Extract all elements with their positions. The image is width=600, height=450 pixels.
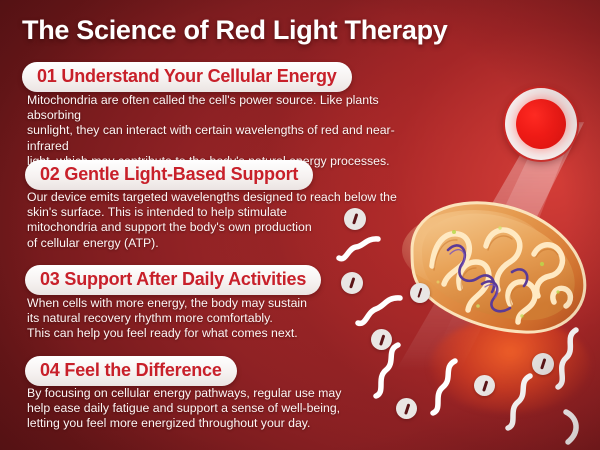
infographic-poster: The Science of Red Light Therapy 01 Unde… xyxy=(0,0,600,450)
section-body-01: Mitochondria are often called the cell's… xyxy=(27,93,427,169)
section-heading-04: 04 Feel the Difference xyxy=(25,356,237,386)
wave-squiggle xyxy=(425,355,471,417)
page-title: The Science of Red Light Therapy xyxy=(22,15,447,46)
red-light-device xyxy=(505,88,577,160)
section-heading-01: 01 Understand Your Cellular Energy xyxy=(22,62,352,92)
section-heading-02: 02 Gentle Light-Based Support xyxy=(25,160,313,190)
wave-squiggle xyxy=(498,370,542,432)
wave-squiggle xyxy=(558,408,592,446)
device-core-light xyxy=(516,99,566,149)
section-heading-03: 03 Support After Daily Activities xyxy=(25,265,321,295)
cell-icon xyxy=(410,283,430,303)
wave-squiggle xyxy=(546,325,588,391)
section-body-03: When cells with more energy, the body ma… xyxy=(27,296,397,342)
section-body-04: By focusing on cellular energy pathways,… xyxy=(27,386,397,432)
mitochondria-illustration xyxy=(382,192,600,342)
section-body-02: Our device emits targeted wavelengths de… xyxy=(27,190,407,251)
cell-icon xyxy=(341,272,363,294)
cell-icon xyxy=(474,375,495,396)
cell-icon xyxy=(396,398,417,419)
